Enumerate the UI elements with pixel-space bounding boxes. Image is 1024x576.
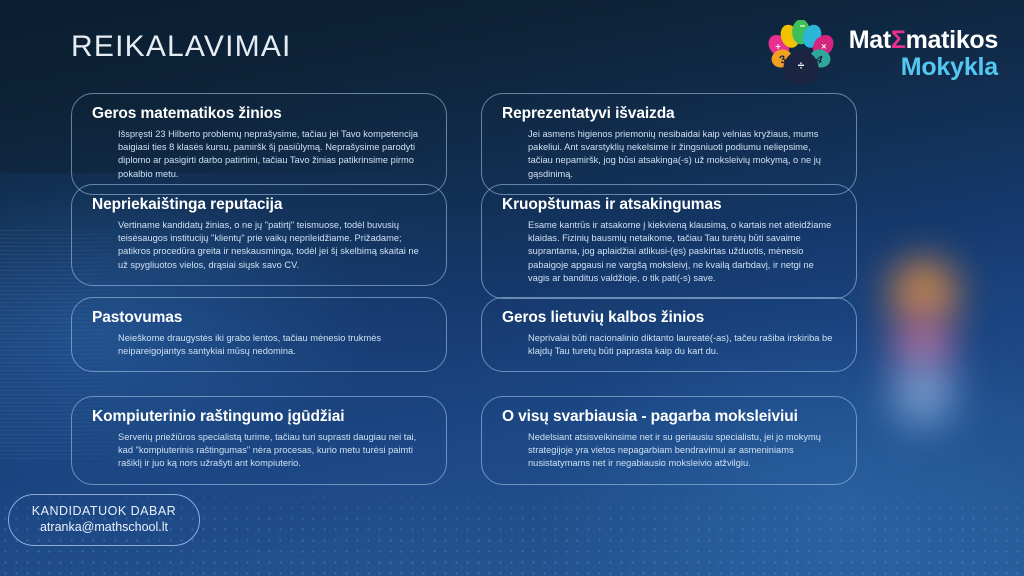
svg-text:÷: ÷	[798, 59, 805, 73]
decorative-orb-blue	[880, 352, 966, 438]
cta-headline: KANDIDATUOK DABAR	[19, 504, 189, 518]
requirement-card: Kruopštumas ir atsakingumas Esame kantrū…	[481, 184, 857, 299]
svg-text:−: −	[799, 21, 805, 32]
brand-logo-line2: Mokykla	[849, 55, 998, 80]
brand-logo-line1: MatΣmatikos	[849, 28, 998, 53]
requirement-card: Geros lietuvių kalbos žinios Neprivalai …	[481, 297, 857, 372]
svg-text:×: ×	[821, 42, 826, 52]
requirement-card: Pastovumas Neieškome draugystės iki grab…	[71, 297, 447, 372]
card-title: Kruopštumas ir atsakingumas	[502, 196, 836, 214]
card-title: Nepriekaištinga reputacija	[92, 196, 426, 214]
card-title: O visų svarbiausia - pagarba moksleiviui	[502, 408, 836, 426]
card-body: Neieškome draugystės iki grabo lentos, t…	[118, 332, 426, 358]
requirement-card: O visų svarbiausia - pagarba moksleiviui…	[481, 396, 857, 485]
card-title: Pastovumas	[92, 309, 426, 327]
requirement-card: Nepriekaištinga reputacija Vertiname kan…	[71, 184, 447, 286]
card-title: Reprezentatyvi išvaizda	[502, 105, 836, 123]
requirement-card: Kompiuterinio raštingumo įgūdžiai Server…	[71, 396, 447, 485]
brand-prefix: Mat	[849, 26, 891, 54]
card-body: Neprivalai būti nacionalinio diktanto la…	[528, 332, 836, 358]
brand-logo: + − × ÷ 3 1 2 4 MatΣmatikos Mokykla	[763, 20, 998, 88]
brand-suffix: matikos	[906, 26, 998, 54]
brand-logo-text: MatΣmatikos Mokykla	[849, 28, 998, 80]
page-title: REIKALAVIMAI	[71, 30, 292, 64]
card-title: Geros matematikos žinios	[92, 105, 426, 123]
math-flower-logo-icon: + − × ÷ 3 1 2 4	[763, 20, 839, 88]
card-body: Nedelsiant atsisveikinsime net ir su ger…	[528, 431, 836, 471]
apply-now-button[interactable]: KANDIDATUOK DABAR atranka@mathschool.lt	[8, 494, 200, 546]
svg-text:2: 2	[804, 46, 810, 58]
requirement-card: Geros matematikos žinios Išspręsti 23 Hi…	[71, 93, 447, 195]
brand-sigma: Σ	[891, 26, 906, 54]
card-body: Vertiname kandidatų žinias, o ne jų "pat…	[118, 219, 426, 272]
svg-text:+: +	[775, 42, 781, 53]
card-title: Kompiuterinio raštingumo įgūdžiai	[92, 408, 426, 426]
card-body: Esame kantrūs ir atsakome į kiekvieną kl…	[528, 219, 836, 285]
card-body: Jei asmens higienos priemonių nesibaidai…	[528, 128, 836, 181]
card-title: Geros lietuvių kalbos žinios	[502, 309, 836, 327]
card-body: Serverių priežiūros specialistą turime, …	[118, 431, 426, 471]
svg-text:1: 1	[793, 46, 799, 58]
slide-root: REIKALAVIMAI + − × ÷ 3 1 2 4	[0, 0, 1024, 576]
card-body: Išspręsti 23 Hilberto problemų neprašysi…	[118, 128, 426, 181]
requirement-card: Reprezentatyvi išvaizda Jei asmens higie…	[481, 93, 857, 195]
cta-email: atranka@mathschool.lt	[19, 520, 189, 534]
